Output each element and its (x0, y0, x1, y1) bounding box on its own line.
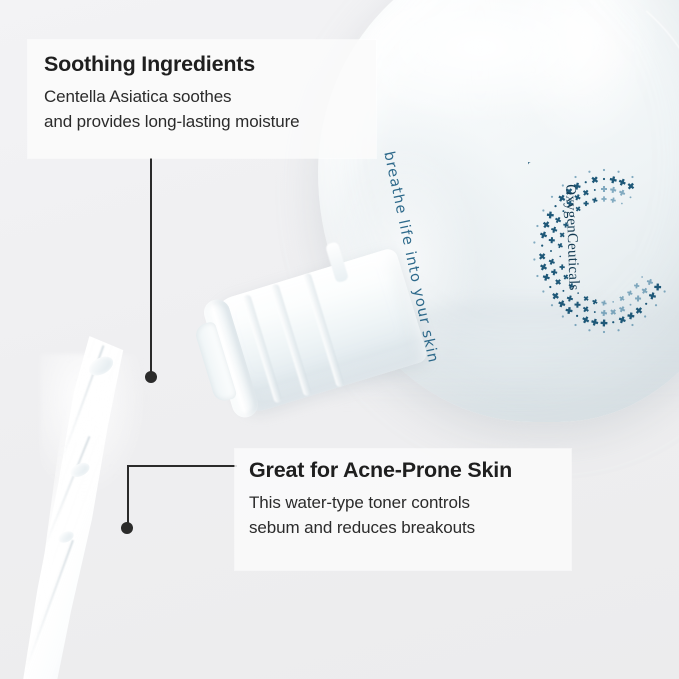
brand-logo: OxygenCeuticals (528, 162, 679, 340)
marker-dot-top (145, 371, 157, 383)
brand-wordmark: OxygenCeuticals (561, 184, 582, 291)
logo-cross-ring-icon (528, 162, 679, 340)
callout-body-line: Centella Asiatica soothes (44, 84, 384, 110)
callout-title: Great for Acne-Prone Skin (249, 458, 579, 483)
callout-body-line: This water-type toner controls (249, 490, 579, 516)
marker-dot-bottom (121, 522, 133, 534)
callout-soothing-ingredients: Soothing Ingredients Centella Asiatica s… (44, 52, 384, 135)
callout-title: Soothing Ingredients (44, 52, 384, 77)
leader-line-bottom-horizontal (127, 465, 237, 467)
callout-body-line: sebum and reduces breakouts (249, 515, 579, 541)
callout-acne-prone-skin: Great for Acne-Prone Skin This water-typ… (249, 458, 579, 541)
leader-line-top (150, 158, 152, 376)
leader-line-bottom-vertical (127, 465, 129, 529)
product-infographic: breathe life into your skin OxygenCeutic… (0, 0, 679, 679)
pouring-liquid-stream (0, 336, 220, 679)
stream-splash (40, 354, 150, 504)
callout-body-line: and provides long-lasting moisture (44, 109, 384, 135)
